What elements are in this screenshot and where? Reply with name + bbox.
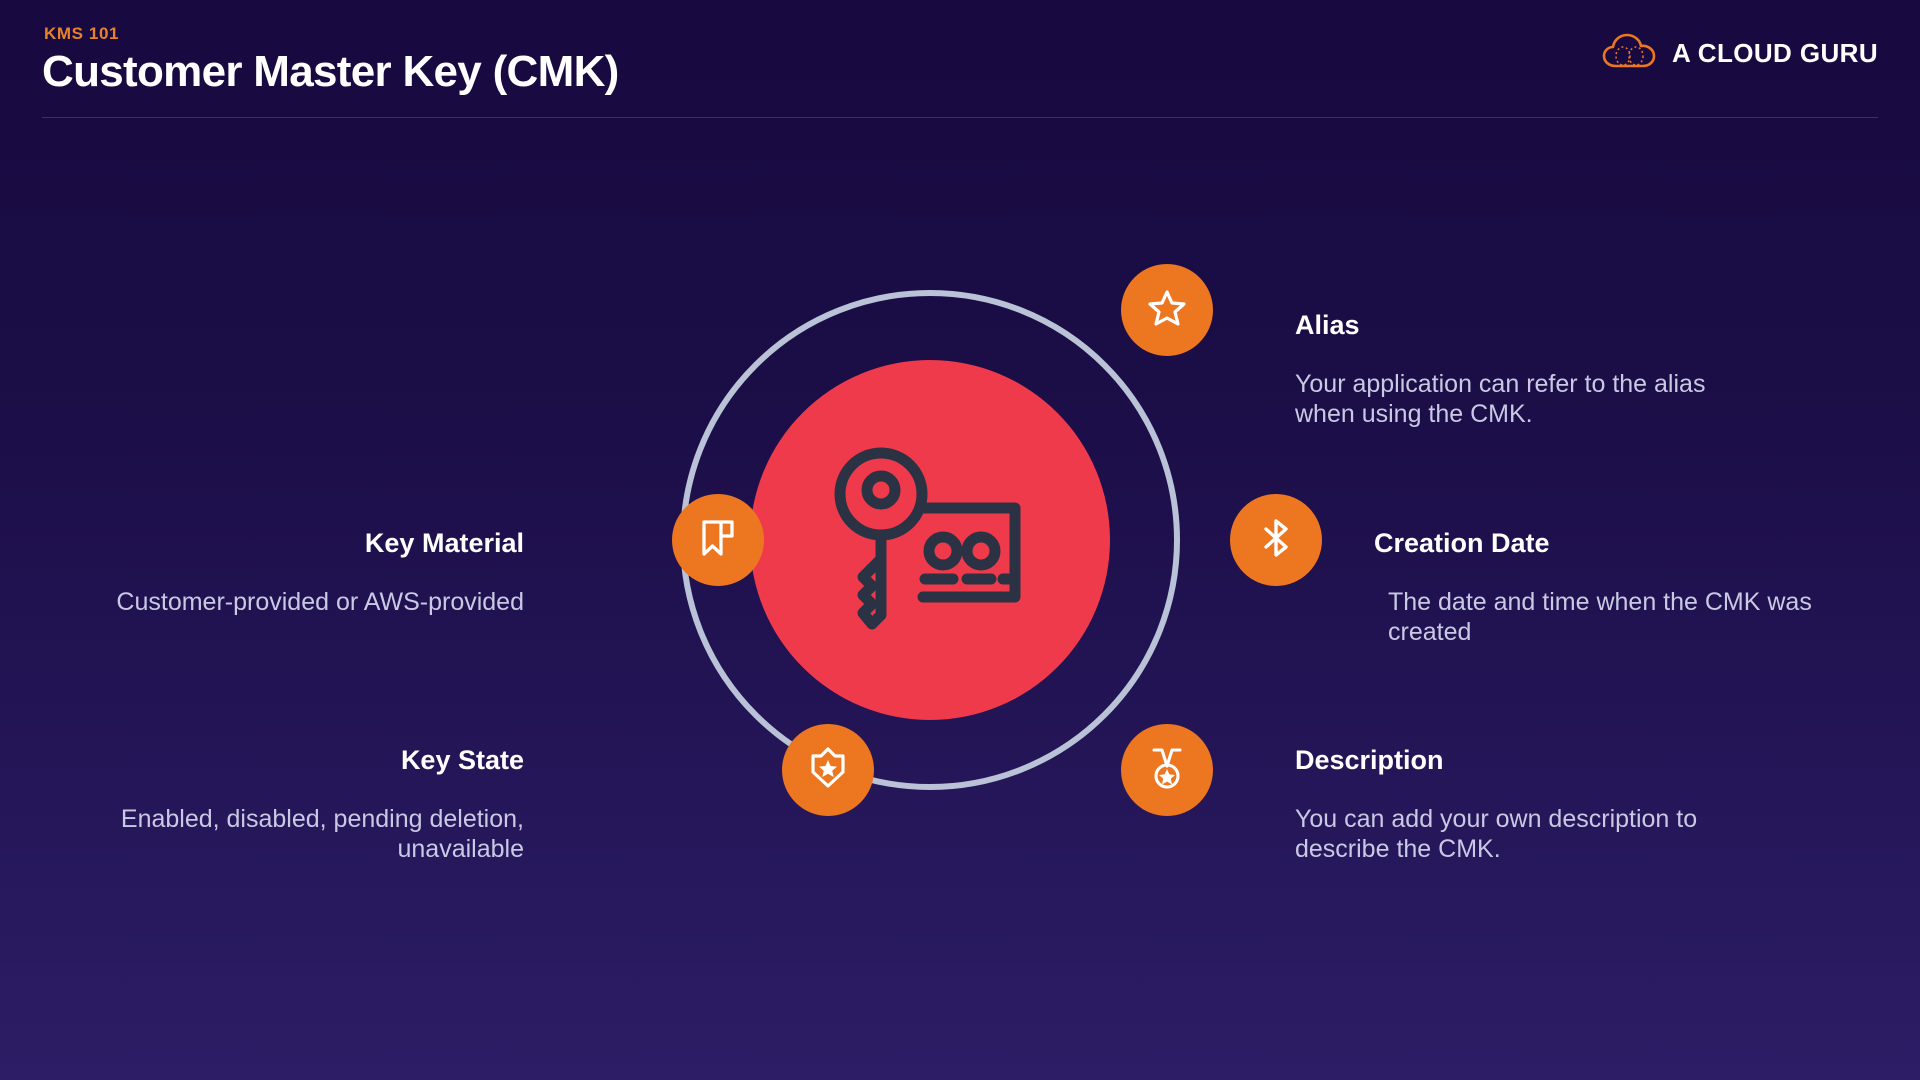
cmk-attribute-diagram: [560, 240, 1360, 840]
header-divider: [42, 117, 1878, 118]
attribute-title: Alias: [1295, 310, 1715, 341]
brand-name: A CLOUD GURU: [1672, 38, 1878, 69]
attribute-body: The date and time when the CMK was creat…: [1388, 587, 1818, 647]
page-title: Customer Master Key (CMK): [42, 47, 619, 97]
attribute-alias: Alias Your application can refer to the …: [1295, 310, 1715, 429]
attribute-title: Creation Date: [1374, 528, 1818, 559]
badge-key-material[interactable]: [672, 494, 764, 586]
key-and-card-icon: [825, 445, 1035, 635]
attribute-body: Customer-provided or AWS-provided: [104, 587, 524, 617]
attribute-title: Description: [1295, 745, 1715, 776]
attribute-creation-date: Creation Date The date and time when the…: [1388, 528, 1818, 647]
shield-star-icon: [807, 746, 849, 795]
bookmark-icon: [697, 516, 739, 565]
badge-alias[interactable]: [1121, 264, 1213, 356]
attribute-body: You can add your own description to desc…: [1295, 804, 1715, 864]
attribute-body: Your application can refer to the alias …: [1295, 369, 1715, 429]
star-icon: [1147, 288, 1187, 333]
attribute-description: Description You can add your own descrip…: [1295, 745, 1715, 864]
badge-creation-date[interactable]: [1230, 494, 1322, 586]
bluetooth-icon: [1258, 516, 1294, 565]
medal-icon: [1146, 746, 1188, 795]
attribute-title: Key State: [104, 745, 524, 776]
attribute-body: Enabled, disabled, pending deletion, una…: [104, 804, 524, 864]
course-kicker: KMS 101: [44, 24, 119, 44]
cloud-icon: [1602, 32, 1658, 75]
badge-key-state[interactable]: [782, 724, 874, 816]
attribute-key-state: Key State Enabled, disabled, pending del…: [104, 745, 524, 864]
attribute-title: Key Material: [104, 528, 524, 559]
brand-logo: A CLOUD GURU: [1602, 32, 1878, 75]
attribute-key-material: Key Material Customer-provided or AWS-pr…: [104, 528, 524, 617]
badge-description[interactable]: [1121, 724, 1213, 816]
cmk-core-circle: [750, 360, 1110, 720]
